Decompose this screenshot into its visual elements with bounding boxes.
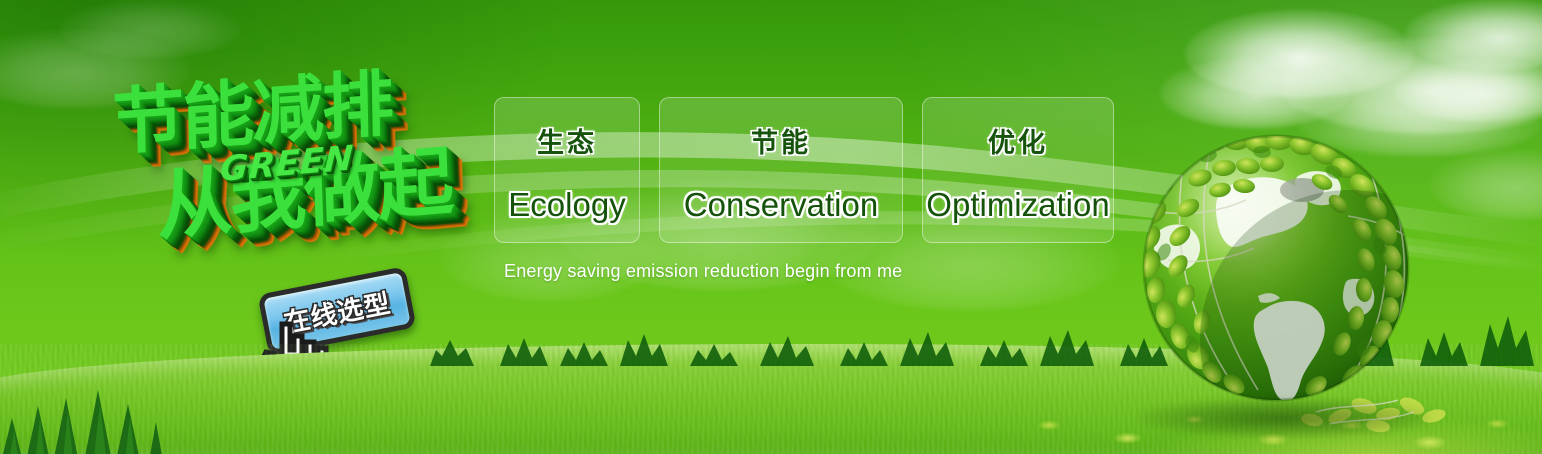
feature-card-optimization[interactable]: 优化 Optimization xyxy=(922,97,1114,243)
feature-card-title-cn: 优化 xyxy=(988,121,1048,160)
green-hero-banner: 节能减排 从我做起 GREEN 在线选型 生态 Ecology 节能 Conse… xyxy=(0,0,1542,454)
feature-card-title-en: Conservation xyxy=(684,186,878,224)
feature-card-ecology[interactable]: 生态 Ecology xyxy=(494,97,640,243)
leaf-covered-globe-icon xyxy=(1116,120,1446,440)
globe-shadow xyxy=(1140,398,1430,438)
feature-card-title-cn: 生态 xyxy=(537,121,597,160)
feature-card-list: 生态 Ecology 节能 Conservation 优化 Optimizati… xyxy=(494,97,1114,243)
feature-card-title-cn: 节能 xyxy=(751,121,811,160)
conifer-treeline-icon xyxy=(0,388,190,454)
banner-tagline: Energy saving emission reduction begin f… xyxy=(504,261,902,282)
feature-card-conservation[interactable]: 节能 Conservation xyxy=(659,97,903,243)
feature-card-title-en: Ecology xyxy=(508,186,625,224)
feature-card-title-en: Optimization xyxy=(926,186,1109,224)
globe-graphic xyxy=(1116,120,1446,440)
